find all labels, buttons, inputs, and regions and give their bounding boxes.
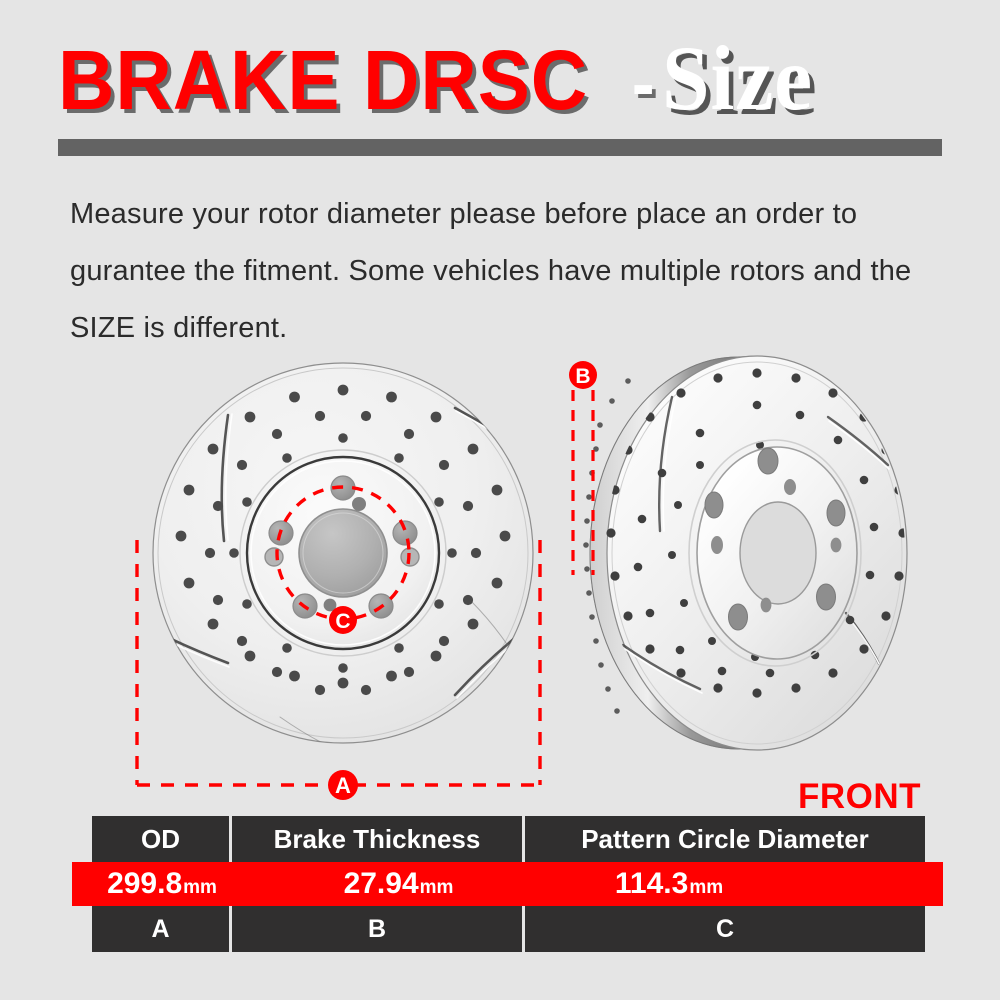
marker-a: A	[328, 770, 358, 800]
spec-table: OD Brake Thickness Pattern Circle Diamet…	[92, 816, 925, 952]
table-letter-c: C	[525, 906, 925, 952]
rotor-diagram: A C	[0, 345, 1000, 815]
marker-c-label: C	[335, 610, 350, 633]
value-od-number: 299.8	[107, 867, 182, 901]
table-header-brake-thickness: Brake Thickness	[232, 816, 525, 862]
marker-c: C	[329, 606, 357, 634]
table-values-row: 299.8mm 27.94mm 114.3mm	[72, 862, 943, 906]
value-brake-thickness-unit: mm	[420, 877, 454, 899]
table-header-pattern-circle-diameter: Pattern Circle Diameter	[525, 816, 925, 862]
table-header-od: OD	[92, 816, 232, 862]
rotor-side-view: B	[569, 356, 908, 750]
marker-b: B	[569, 361, 597, 389]
marker-a-label: A	[335, 773, 351, 798]
title-main-text: BRAKE DRSC	[58, 38, 588, 122]
table-letter-b: B	[232, 906, 525, 952]
rotor-front-view: A C	[133, 363, 546, 800]
table-letter-a: A	[92, 906, 232, 952]
page-title: BRAKE DRSC-Size	[58, 36, 948, 120]
value-pattern-circle-diameter-number: 114.3	[615, 867, 688, 901]
value-pattern-circle-diameter: 114.3mm	[545, 867, 943, 901]
value-od: 299.8mm	[72, 867, 252, 901]
title-dash: -	[628, 42, 659, 126]
description-text: Measure your rotor diameter please befor…	[70, 186, 940, 357]
value-pattern-circle-diameter-unit: mm	[689, 877, 723, 899]
value-brake-thickness: 27.94mm	[252, 867, 545, 901]
value-od-unit: mm	[183, 877, 217, 899]
value-brake-thickness-number: 27.94	[344, 867, 419, 901]
front-label: FRONT	[798, 777, 921, 817]
title-sub-text: Size	[662, 36, 813, 120]
marker-b-label: B	[575, 365, 590, 388]
table-letter-row: A B C	[92, 906, 925, 952]
page-root: BRAKE DRSC-Size Measure your rotor diame…	[0, 0, 1000, 1000]
header-divider	[58, 139, 942, 156]
table-header-row: OD Brake Thickness Pattern Circle Diamet…	[92, 816, 925, 862]
